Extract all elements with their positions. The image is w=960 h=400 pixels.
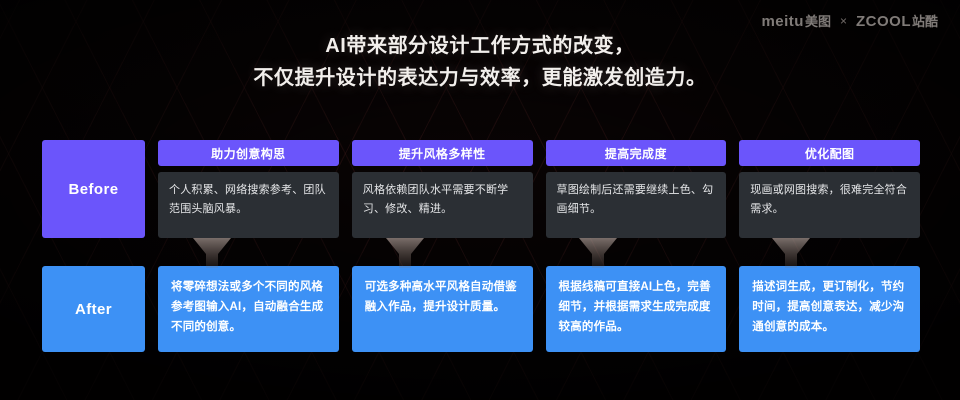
column-header-2: 提升风格多样性 <box>352 140 533 166</box>
before-cell-3: 草图绘制后还需要继续上色、勾画细节。 <box>546 172 727 238</box>
before-cell-4: 现画或网图搜索，很难完全符合需求。 <box>739 172 920 238</box>
column-2: 提升风格多样性 风格依赖团队水平需要不断学习、修改、精进。 <box>352 140 533 238</box>
down-arrow-icon-1 <box>185 238 239 268</box>
down-arrow-icon-2 <box>378 238 432 268</box>
slide-canvas: meitu 美图 × ZCOOL 站酷 AI带来部分设计工作方式的改变， 不仅提… <box>0 0 960 400</box>
before-cell-2: 风格依赖团队水平需要不断学习、修改、精进。 <box>352 172 533 238</box>
zcool-logo-wordmark: ZCOOL <box>856 13 911 30</box>
page-title: AI带来部分设计工作方式的改变， 不仅提升设计的表达力与效率，更能激发创造力。 <box>0 30 960 94</box>
column-4: 优化配图 现画或网图搜索，很难完全符合需求。 <box>739 140 920 238</box>
row-label-before: Before <box>42 140 145 238</box>
after-column-1: 将零碎想法或多个不同的风格参考图输入AI，自动融合生成不同的创意。 <box>158 266 339 352</box>
column-1: 助力创意构思 个人积累、网络搜索参考、团队范围头脑风暴。 <box>158 140 339 238</box>
meitu-logo-chinese: 美图 <box>805 11 831 30</box>
after-cell-1: 将零碎想法或多个不同的风格参考图输入AI，自动融合生成不同的创意。 <box>158 266 339 352</box>
zcool-logo: ZCOOL 站酷 <box>856 11 938 30</box>
page-title-line-1: AI带来部分设计工作方式的改变， <box>325 35 635 57</box>
table-row-before: Before 助力创意构思 个人积累、网络搜索参考、团队范围头脑风暴。 提升风格… <box>42 140 920 238</box>
down-arrow-icon-3 <box>571 238 625 268</box>
after-cell-4: 描述词生成，更订制化，节约时间，提高创意表达，减少沟通创意的成本。 <box>739 266 920 352</box>
before-cell-1: 个人积累、网络搜索参考、团队范围头脑风暴。 <box>158 172 339 238</box>
after-column-4: 描述词生成，更订制化，节约时间，提高创意表达，减少沟通创意的成本。 <box>739 266 920 352</box>
meitu-logo-wordmark: meitu <box>761 13 804 30</box>
brand-lockup: meitu 美图 × ZCOOL 站酷 <box>761 11 938 30</box>
zcool-logo-chinese: 站酷 <box>912 11 938 30</box>
column-header-1: 助力创意构思 <box>158 140 339 166</box>
row-label-after: After <box>42 266 145 352</box>
down-arrow-icon-4 <box>764 238 818 268</box>
column-3: 提高完成度 草图绘制后还需要继续上色、勾画细节。 <box>546 140 727 238</box>
table-row-after: After 将零碎想法或多个不同的风格参考图输入AI，自动融合生成不同的创意。 … <box>42 266 920 352</box>
after-cell-3: 根据线稿可直接AI上色，完善细节，并根据需求生成完成度较高的作品。 <box>546 266 727 352</box>
after-cell-2: 可选多种高水平风格自动借鉴融入作品，提升设计质量。 <box>352 266 533 352</box>
after-column-3: 根据线稿可直接AI上色，完善细节，并根据需求生成完成度较高的作品。 <box>546 266 727 352</box>
meitu-logo: meitu 美图 <box>761 11 831 30</box>
after-column-2: 可选多种高水平风格自动借鉴融入作品，提升设计质量。 <box>352 266 533 352</box>
column-header-3: 提高完成度 <box>546 140 727 166</box>
page-title-line-2: 不仅提升设计的表达力与效率，更能激发创造力。 <box>0 62 960 94</box>
brand-separator-icon: × <box>840 14 847 28</box>
transition-arrows <box>42 238 920 268</box>
column-header-4: 优化配图 <box>739 140 920 166</box>
